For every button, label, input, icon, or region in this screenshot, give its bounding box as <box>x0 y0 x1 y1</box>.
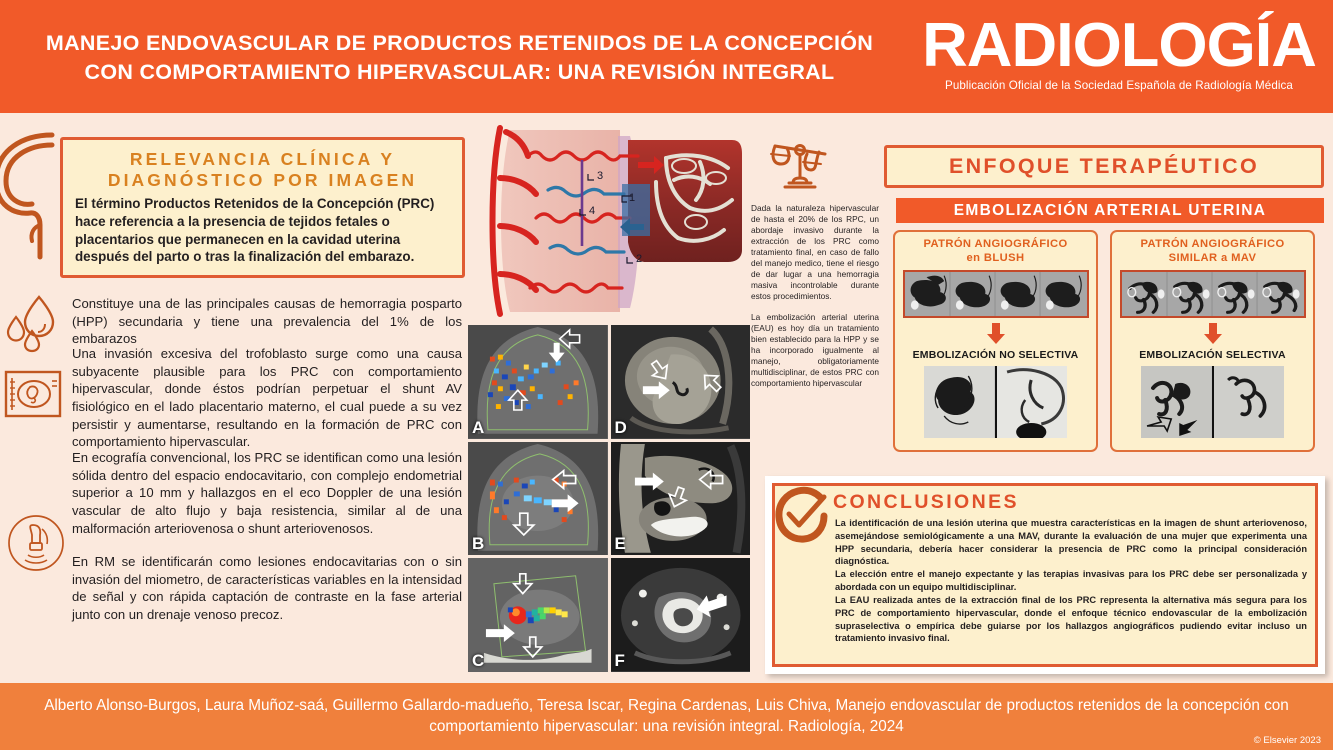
pattern-blush-result: EMBOLIZACIÓN NO SELECTIVA <box>902 349 1089 361</box>
conclusions-body: La identificación de una lesión uterina … <box>835 517 1307 645</box>
page-title: MANEJO ENDOVASCULAR DE PRODUCTOS RETENID… <box>0 0 905 113</box>
therapeutic-approach-title: ENFOQUE TERAPÉUTICO <box>949 154 1259 179</box>
scales-balance-icon <box>769 137 831 193</box>
panel-label-B: B <box>472 534 484 554</box>
journal-brand: RADIOLOGÍA Publicación Oficial de la Soc… <box>905 0 1333 113</box>
angiogram-post-avm <box>1214 366 1285 438</box>
angiogram-pre-blush <box>924 366 995 438</box>
left-paragraph-4: En RM se identificarán como lesiones end… <box>72 553 462 624</box>
angiogram-pre-avm <box>1141 366 1212 438</box>
blood-drop-icon <box>6 293 58 353</box>
anatomy-callout-4: 4 <box>589 205 595 217</box>
left-paragraph-2: Una invasión excesiva del trofoblasto su… <box>72 345 462 451</box>
clinical-relevance-highlight: El término Productos Retenidos de la Con… <box>75 195 450 266</box>
citation-text: Alberto Alonso-Burgos, Laura Muñoz-saá, … <box>0 696 1333 738</box>
conclusion-item-1: La identificación de una lesión uterina … <box>835 517 1307 568</box>
left-paragraph-3: En ecografía convencional, los PRC se id… <box>72 449 462 537</box>
conclusions-card: CONCLUSIONES La identificación de una le… <box>772 483 1318 667</box>
clinical-relevance-card: RELEVANCIA CLÍNICA Y DIAGNÓSTICO POR IMA… <box>60 137 465 278</box>
pattern-avm-title-line1: PATRÓN ANGIOGRÁFICO <box>1119 238 1306 252</box>
left-paragraph-1: Constituye una de las principales causas… <box>72 295 462 348</box>
conclusion-item-3: La EAU realizada antes de la extracción … <box>835 594 1307 645</box>
pattern-blush-angio-strip <box>903 270 1089 318</box>
poster-root: MANEJO ENDOVASCULAR DE PRODUCTOS RETENID… <box>0 0 1333 750</box>
anatomy-callout-1: 1 <box>629 192 635 204</box>
checkmark-box-icon <box>770 483 836 549</box>
panel-label-C: C <box>472 651 484 671</box>
middle-text-column: Dada la naturaleza hipervascular de hast… <box>751 203 879 400</box>
ultrasound-probe-icon <box>6 513 66 573</box>
middle-paragraph-1: Dada la naturaleza hipervascular de hast… <box>751 203 879 302</box>
uterine-artery-embolization-bar: EMBOLIZACIÓN ARTERIAL UTERINA <box>896 198 1324 223</box>
copyright-text: © Elsevier 2023 <box>1254 735 1321 746</box>
conclusions-title: CONCLUSIONES <box>833 491 1307 514</box>
anatomy-callout-2: 2 <box>636 253 642 265</box>
imaging-panel-grid: A D <box>468 325 750 672</box>
arrow-down-icon <box>986 323 1006 345</box>
imaging-panel-A: A <box>468 325 608 439</box>
left-column: RELEVANCIA CLÍNICA Y DIAGNÓSTICO POR IMA… <box>0 113 470 683</box>
ultrasound-fetus-icon <box>4 368 62 420</box>
arrow-down-icon <box>1203 323 1223 345</box>
conclusion-item-2: La elección entre el manejo expectante y… <box>835 568 1307 594</box>
pattern-blush-result-images <box>924 366 1067 438</box>
anatomy-callout-3: 3 <box>597 170 603 182</box>
imaging-panel-B: B <box>468 442 608 556</box>
panel-label-E: E <box>615 534 626 554</box>
pattern-avm-title-line2: SIMILAR a MAV <box>1119 252 1306 266</box>
pattern-avm-arrow <box>1119 323 1306 345</box>
clinical-relevance-title: RELEVANCIA CLÍNICA Y DIAGNÓSTICO POR IMA… <box>75 149 450 190</box>
imaging-panel-D: D <box>611 325 751 439</box>
poster-footer: Alberto Alonso-Burgos, Laura Muñoz-saá, … <box>0 683 1333 750</box>
pattern-avm-angio-strip <box>1120 270 1306 318</box>
imaging-panel-F: F <box>611 558 751 672</box>
imaging-panel-E: E <box>611 442 751 556</box>
panel-label-D: D <box>615 418 627 438</box>
pattern-avm-result: EMBOLIZACIÓN SELECTIVA <box>1119 349 1306 361</box>
brand-subtitle: Publicación Oficial de la Sociedad Españ… <box>945 79 1293 92</box>
uterine-artery-embolization-label: EMBOLIZACIÓN ARTERIAL UTERINA <box>954 202 1266 220</box>
poster-header: MANEJO ENDOVASCULAR DE PRODUCTOS RETENID… <box>0 0 1333 113</box>
pattern-blush-title-line1: PATRÓN ANGIOGRÁFICO <box>902 238 1089 252</box>
pattern-avm-result-images <box>1141 366 1284 438</box>
brand-wordmark: RADIOLOGÍA <box>922 17 1316 76</box>
placenta-vascular-diagram: 3 4 1 2 <box>470 122 758 320</box>
pattern-card-blush: PATRÓN ANGIOGRÁFICO en BLUSH <box>893 230 1098 452</box>
imaging-panel-C: C <box>468 558 608 672</box>
middle-paragraph-2: La embolización arterial uterina (EAU) e… <box>751 312 879 389</box>
therapeutic-approach-card: ENFOQUE TERAPÉUTICO <box>884 145 1324 188</box>
pattern-blush-title-line2: en BLUSH <box>902 252 1089 266</box>
angiogram-post-blush <box>997 366 1068 438</box>
panel-label-F: F <box>615 651 625 671</box>
pattern-card-avm: PATRÓN ANGIOGRÁFICO SIMILAR a MAV <box>1110 230 1315 452</box>
panel-label-A: A <box>472 418 484 438</box>
pattern-blush-arrow <box>902 323 1089 345</box>
